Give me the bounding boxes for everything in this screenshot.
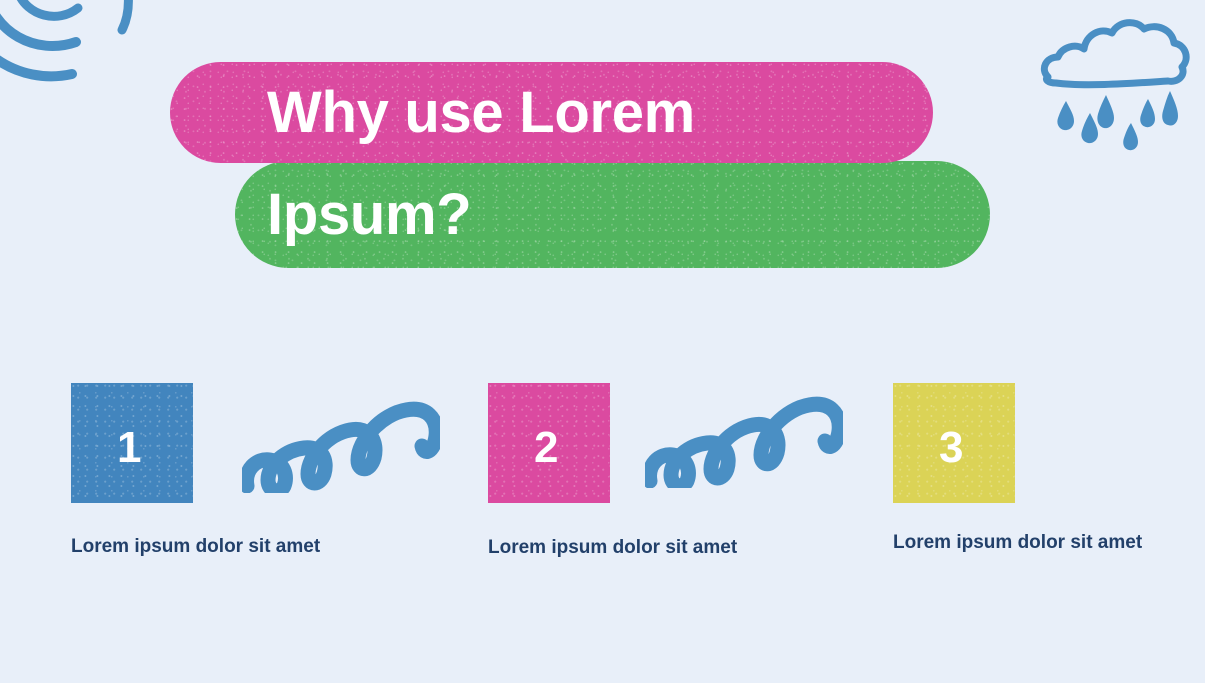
- number-square: 3: [893, 383, 1015, 503]
- list-item: 1 Lorem ipsum dolor sit amet: [71, 383, 356, 565]
- item-number: 1: [117, 426, 141, 470]
- slide-canvas: Why use Lorem Ipsum? 1 Lorem ipsum dolor…: [0, 0, 1205, 683]
- item-number: 2: [534, 426, 558, 470]
- item-number: 3: [939, 426, 963, 470]
- item-caption: Lorem ipsum dolor sit amet: [488, 531, 738, 566]
- number-square: 1: [71, 383, 193, 503]
- title-block: Why use Lorem Ipsum?: [0, 0, 1205, 300]
- title-banner-green: Ipsum?: [235, 161, 990, 268]
- title-line-2: Ipsum?: [267, 181, 471, 248]
- number-square: 2: [488, 383, 610, 503]
- list-item: 2 Lorem ipsum dolor sit amet: [488, 383, 773, 566]
- item-caption: Lorem ipsum dolor sit amet: [71, 530, 321, 565]
- item-caption: Lorem ipsum dolor sit amet: [893, 526, 1143, 561]
- list-item: 3 Lorem ipsum dolor sit amet: [893, 383, 1178, 561]
- items-row: 1 Lorem ipsum dolor sit amet 2 Lorem ips…: [0, 383, 1205, 603]
- title-banner-pink: Why use Lorem: [170, 62, 933, 163]
- title-line-1: Why use Lorem: [267, 79, 695, 146]
